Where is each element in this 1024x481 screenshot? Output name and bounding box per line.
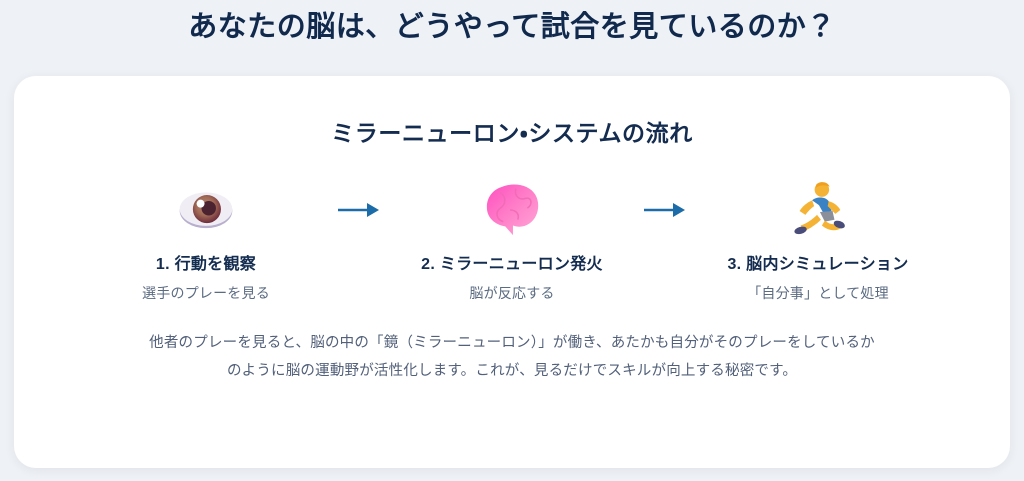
flow-card: ミラーニューロン・システムの流れ xyxy=(14,76,1010,468)
flow-step-1: 1. 行動を観察 選手のプレーを見る xyxy=(91,176,321,303)
flow-step-2-sub: 脳が反応する xyxy=(397,283,627,303)
flow-step-3: 3. 脳内シミュレーション 「自分事」として処理 xyxy=(703,176,933,303)
arrow-right-icon-2 xyxy=(627,176,703,244)
flow-step-3-sub: 「自分事」として処理 xyxy=(703,283,933,303)
brain-emoji xyxy=(397,176,627,244)
eye-emoji xyxy=(91,176,321,244)
flow-step-3-label: 3. 脳内シミュレーション xyxy=(703,250,933,274)
flow-step-2: 2. ミラーニューロン発火 脳が反応する xyxy=(397,176,627,303)
page-root: あなたの脳は、どうやって試合を見ているのか？ ミラーニューロン・システムの流れ xyxy=(0,0,1024,481)
flow-step-1-sub: 選手のプレーを見る xyxy=(91,283,321,303)
runner-emoji xyxy=(703,176,933,244)
card-title: ミラーニューロン・システムの流れ xyxy=(14,76,1010,148)
flow-step-2-label: 2. ミラーニューロン発火 xyxy=(397,250,627,274)
arrow-right-icon-1 xyxy=(321,176,397,244)
summary-text: 他者のプレーを見ると、脳の中の「鏡（ミラーニューロン）」が働き、あたかも自分がそ… xyxy=(142,329,882,386)
flow-step-1-label: 1. 行動を観察 xyxy=(91,250,321,274)
page-title: あなたの脳は、どうやって試合を見ているのか？ xyxy=(0,0,1024,47)
flow-steps-row: 1. 行動を観察 選手のプレーを見る xyxy=(14,176,1010,303)
